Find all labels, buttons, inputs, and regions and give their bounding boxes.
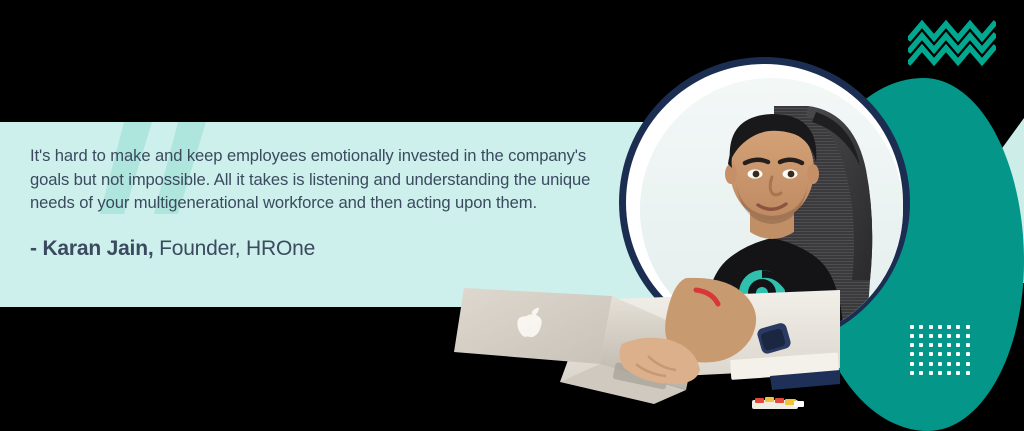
sticky-notes-icon bbox=[752, 396, 810, 410]
attribution-dash: - bbox=[30, 237, 37, 260]
attribution-role: Founder, HROne bbox=[159, 237, 315, 260]
attribution: - Karan Jain, Founder, HROne bbox=[30, 237, 672, 261]
quote-card: It's hard to make and keep employees emo… bbox=[0, 0, 1024, 431]
dot-grid-icon bbox=[910, 325, 972, 377]
zigzag-wave-icon bbox=[908, 18, 996, 68]
attribution-name: Karan Jain, bbox=[42, 237, 153, 260]
quote-text: It's hard to make and keep employees emo… bbox=[30, 144, 615, 215]
